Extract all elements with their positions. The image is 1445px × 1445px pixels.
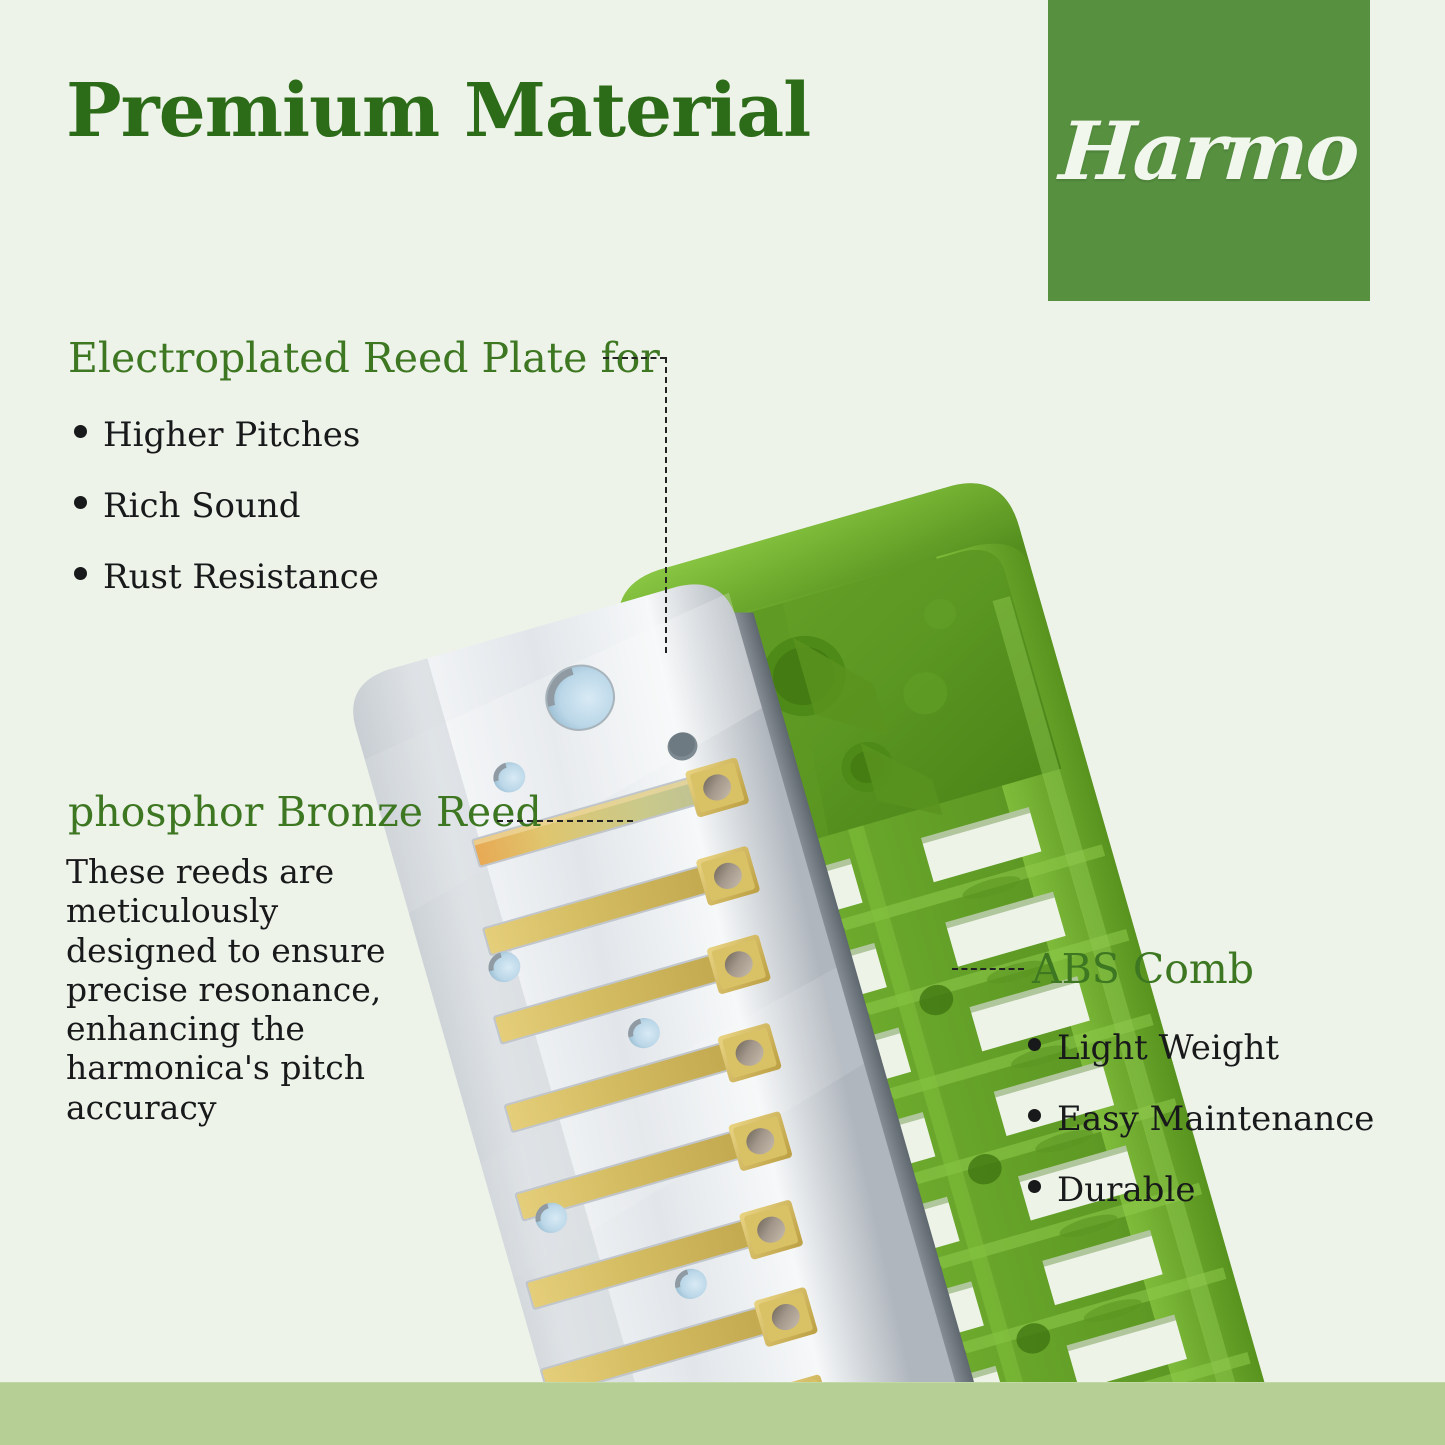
bullet-dot-icon [1028,1109,1041,1122]
bullet-dot-icon [74,425,87,438]
list-item: Rust Resistance [74,557,379,597]
bullet-dot-icon [1028,1038,1041,1051]
callout-heading-phosphor-bronze-reed: phosphor Bronze Reed [68,788,542,836]
callout-heading-abs-comb: ABS Comb [1032,945,1254,993]
brand-logo: Harmo [1048,0,1370,301]
list-item-label: Rich Sound [103,486,301,526]
page-title: Premium Material [66,74,810,148]
callout-heading-reed-plate: Electroplated Reed Plate for [68,334,660,382]
list-item-label: Higher Pitches [103,415,360,455]
leader-line-abs-comb [952,968,1024,970]
leader-line-reed-plate-horizontal [603,357,666,359]
list-item: Easy Maintenance [1028,1099,1374,1139]
brand-logo-text: Harmo [1057,104,1361,198]
list-item-label: Rust Resistance [103,557,379,597]
list-item: Durable [1028,1170,1374,1210]
leader-line-phosphor-bronze-reed [497,820,633,822]
bullet-list-reed-plate: Higher Pitches Rich Sound Rust Resistanc… [74,415,379,628]
list-item: Light Weight [1028,1028,1374,1068]
list-item: Rich Sound [74,486,379,526]
list-item-label: Durable [1057,1170,1195,1210]
bullet-dot-icon [74,567,87,580]
bullet-list-abs-comb: Light Weight Easy Maintenance Durable [1028,1028,1374,1241]
bullet-dot-icon [74,496,87,509]
leader-line-reed-plate-vertical [665,357,667,653]
list-item: Higher Pitches [74,415,379,455]
callout-body-phosphor-bronze-reed: These reeds are meticulously designed to… [66,852,396,1127]
list-item-label: Easy Maintenance [1057,1099,1374,1139]
bottom-band [0,1383,1445,1445]
infographic-canvas: Harmo Premium Material Electroplated Ree… [0,0,1445,1445]
list-item-label: Light Weight [1057,1028,1279,1068]
bullet-dot-icon [1028,1180,1041,1193]
